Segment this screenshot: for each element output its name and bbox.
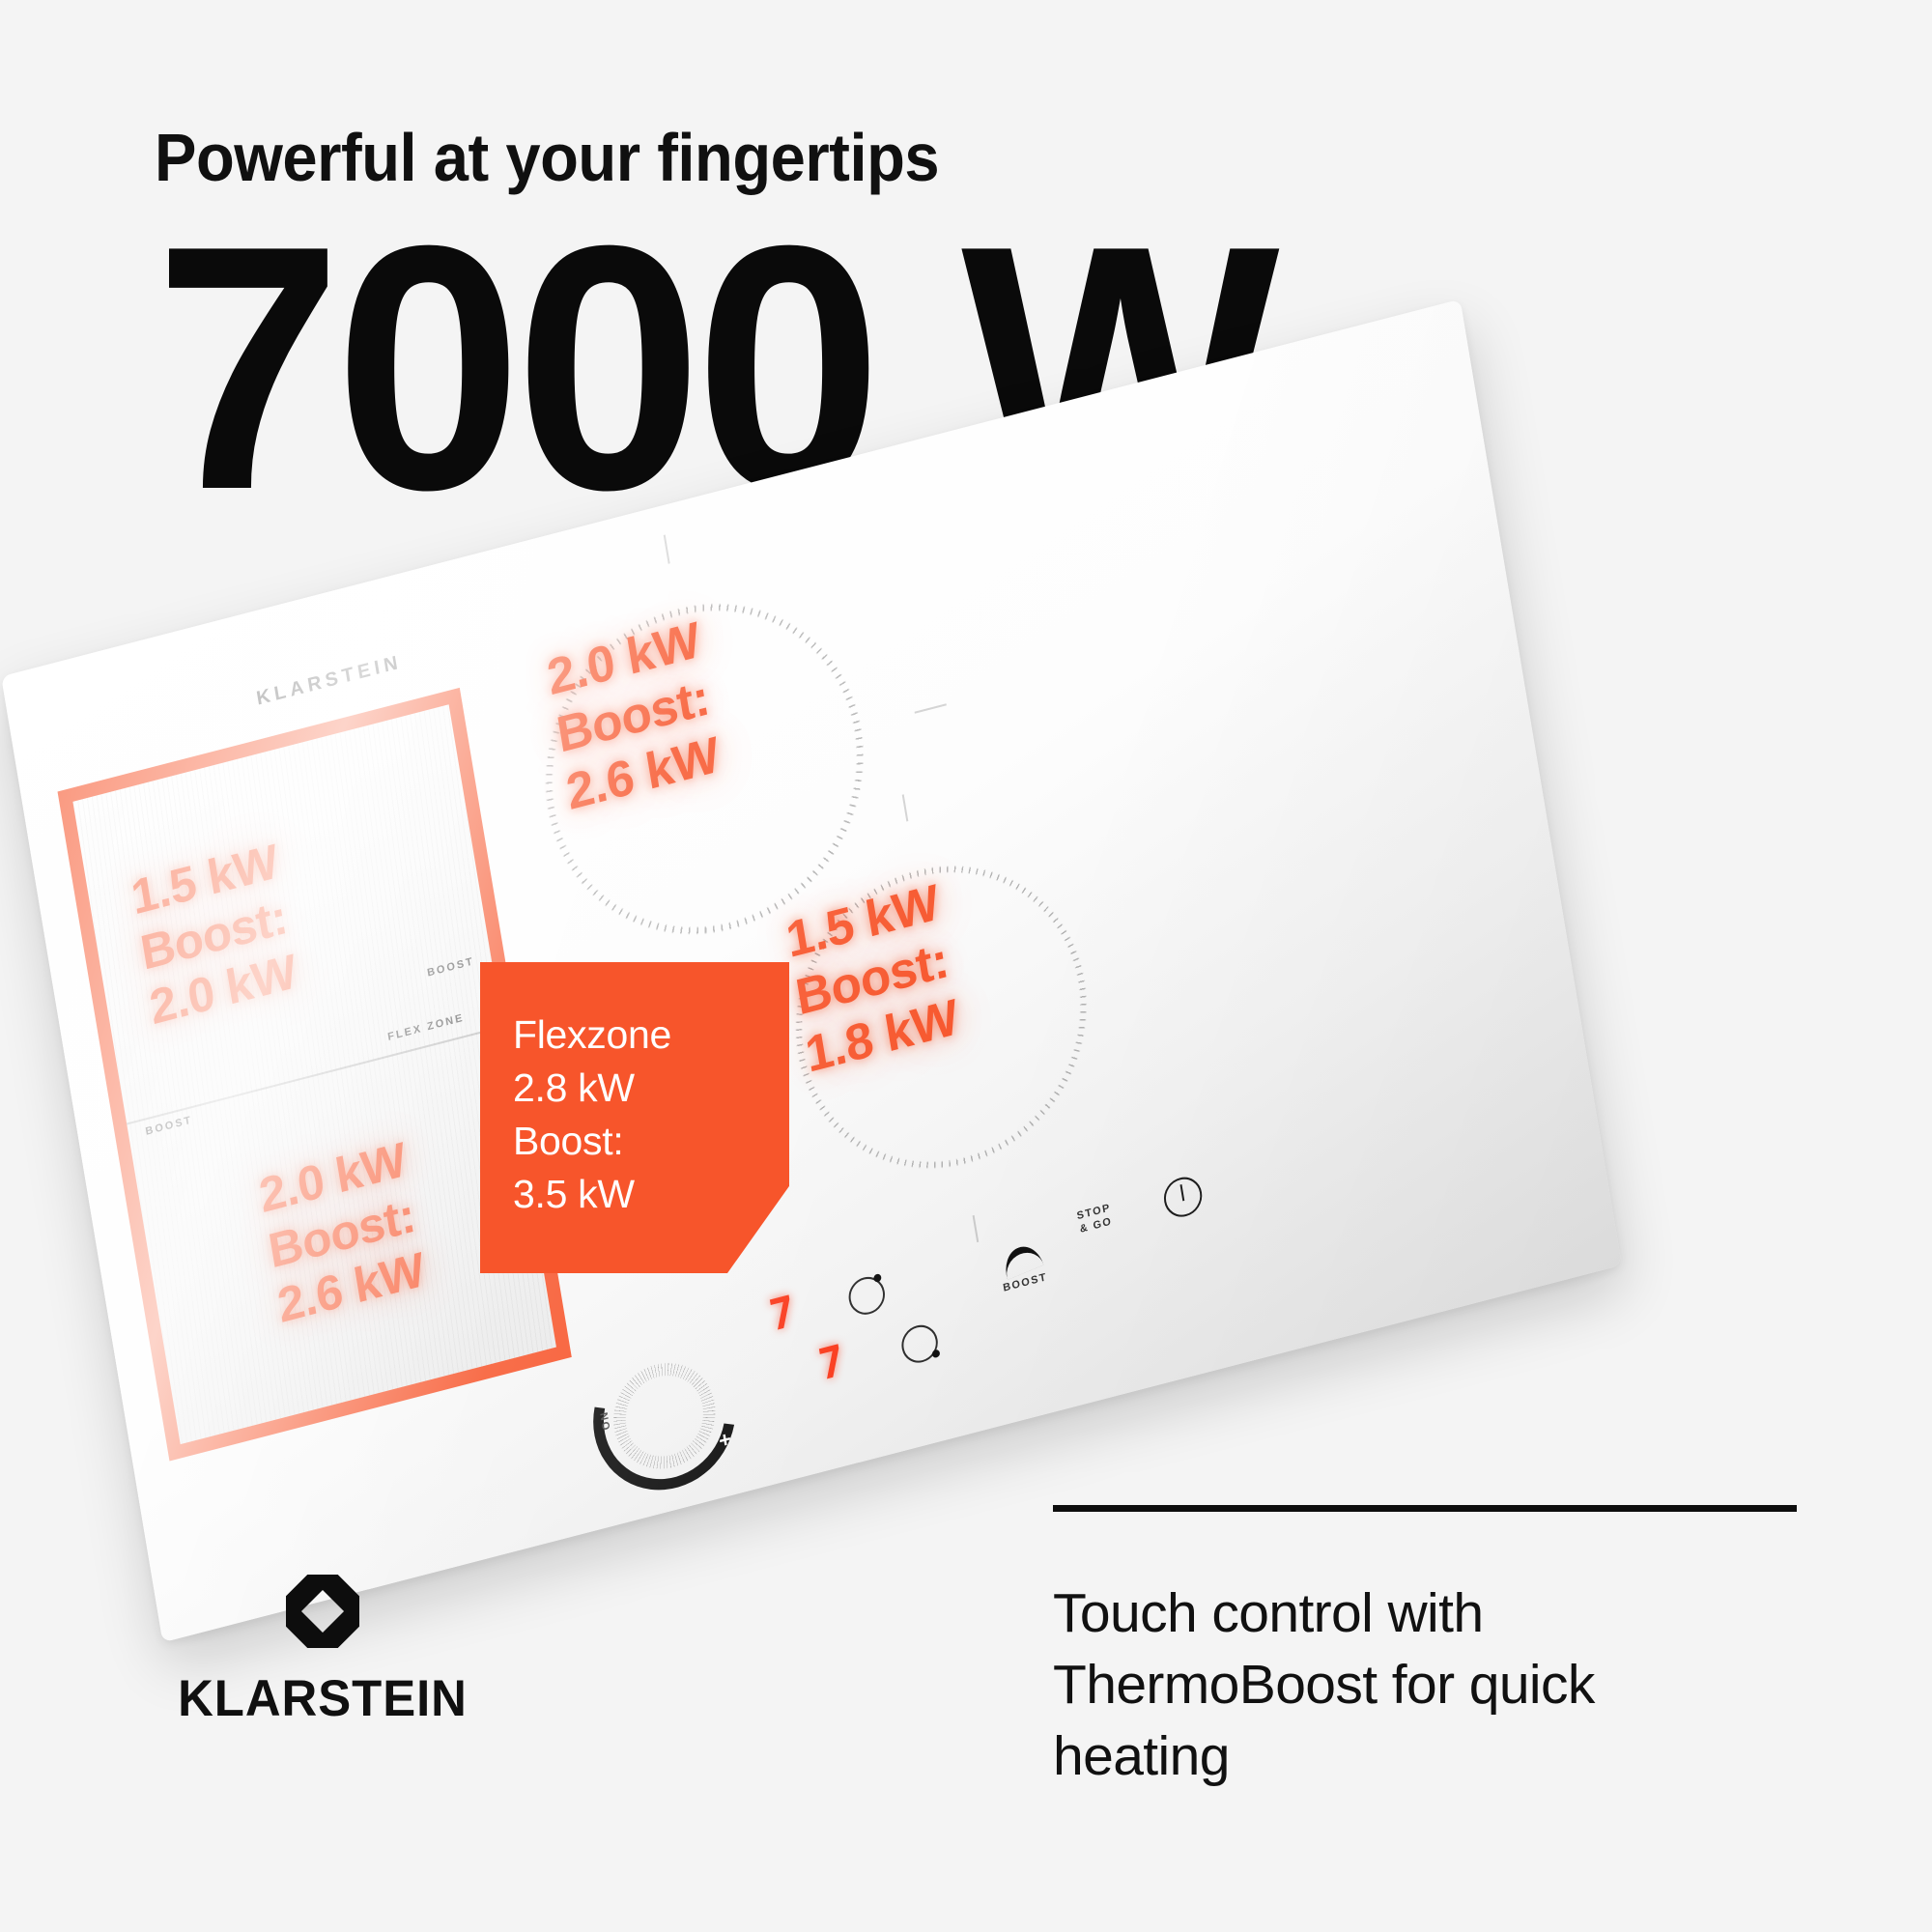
flex-boost-tag-top: BOOST bbox=[426, 955, 475, 979]
flexzone-callout-text: Flexzone 2.8 kW Boost: 3.5 kW bbox=[480, 962, 789, 1221]
brand-wordmark: KLARSTEIN bbox=[128, 1669, 517, 1728]
timer-icon-lower[interactable] bbox=[899, 1321, 941, 1367]
stop-and-go-label: STOP & GO bbox=[1076, 1202, 1115, 1236]
stop-and-go-button[interactable]: STOP & GO bbox=[1076, 1202, 1115, 1236]
hob-surface: KLARSTEIN FLEX ZONE BOOST BOOST 1.5 kW bbox=[1, 299, 1622, 1643]
caption-text: Touch control with ThermoBoost for quick… bbox=[1053, 1577, 1816, 1792]
induction-hob: KLARSTEIN FLEX ZONE BOOST BOOST 1.5 kW bbox=[1, 299, 1622, 1643]
product-scene: KLARSTEIN FLEX ZONE BOOST BOOST 1.5 kW bbox=[0, 415, 1932, 1575]
klarstein-logo-icon bbox=[286, 1575, 359, 1648]
flexzone-callout: Flexzone 2.8 kW Boost: 3.5 kW bbox=[480, 962, 789, 1273]
flex-zone-divider bbox=[127, 1026, 503, 1125]
caption-divider bbox=[1053, 1505, 1797, 1512]
caption-block: Touch control with ThermoBoost for quick… bbox=[1053, 1505, 1816, 1792]
led-display-left: 7 bbox=[766, 1287, 797, 1342]
poster-canvas: Powerful at your fingertips 7000 W KLARS… bbox=[0, 0, 1932, 1932]
plus-icon[interactable]: + bbox=[711, 1425, 739, 1456]
power-slider-arc[interactable] bbox=[566, 1312, 763, 1520]
hob-brand-print: KLARSTEIN bbox=[255, 651, 404, 711]
timer-icon-upper[interactable] bbox=[846, 1273, 888, 1319]
power-button[interactable] bbox=[1161, 1173, 1205, 1221]
boost-button[interactable]: BOOST bbox=[997, 1241, 1048, 1295]
brand-lockup: KLARSTEIN bbox=[120, 1575, 526, 1728]
power-icon bbox=[1161, 1173, 1205, 1221]
led-display-right: 7 bbox=[815, 1336, 846, 1391]
